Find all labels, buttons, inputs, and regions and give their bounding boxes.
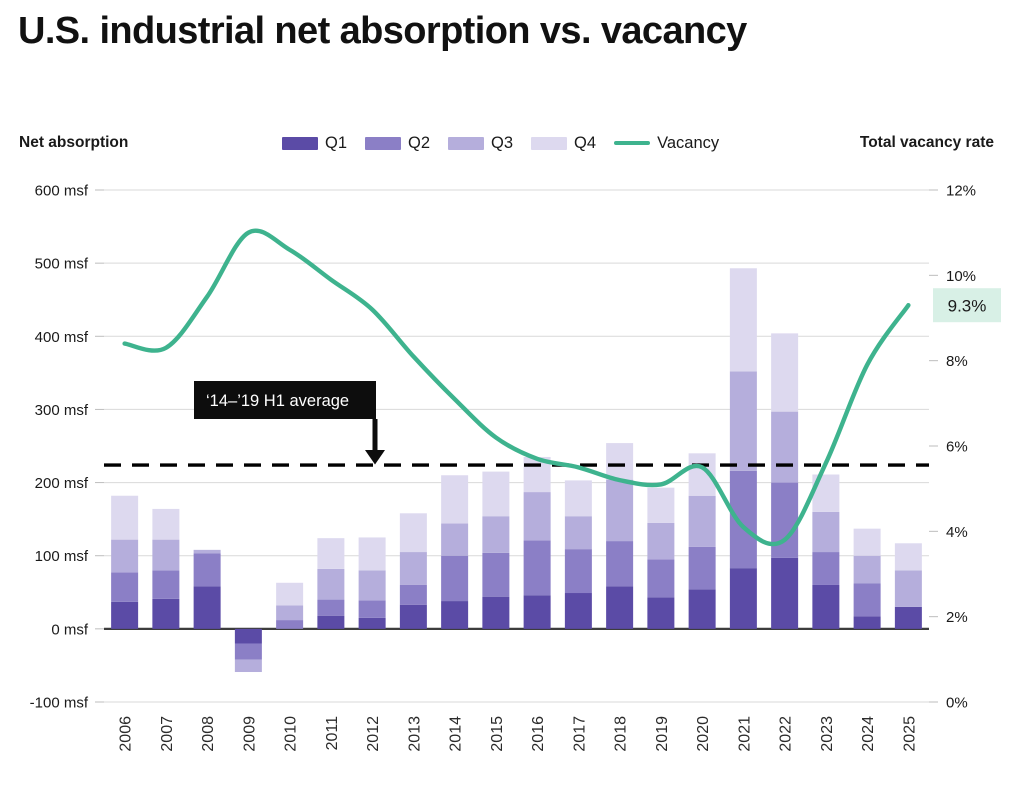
bar-segment-q2[interactable] <box>771 483 798 558</box>
x-axis-tick-label: 2014 <box>448 716 465 752</box>
bar-segment-q2[interactable] <box>730 471 757 568</box>
bar-segment-q1[interactable] <box>895 607 922 629</box>
bar-segment-q2[interactable] <box>235 643 262 659</box>
bar-group-2016[interactable] <box>524 457 551 629</box>
x-axis-labels: 2006200720082009201020112012201320142015… <box>118 716 919 752</box>
left-axis-tick-label: 400 msf <box>35 329 89 346</box>
bar-segment-q3[interactable] <box>482 516 509 553</box>
bar-segment-q1[interactable] <box>812 585 839 629</box>
bar-group-2017[interactable] <box>565 480 592 628</box>
bar-segment-q2[interactable] <box>606 541 633 586</box>
bar-segment-q1[interactable] <box>524 595 551 629</box>
x-axis-tick-label: 2019 <box>654 716 671 752</box>
bar-group-2012[interactable] <box>359 537 386 628</box>
bar-segment-q1[interactable] <box>152 599 179 629</box>
chart-plot-area: -100 msf0 msf100 msf200 msf300 msf400 ms… <box>0 0 1024 809</box>
bar-segment-q2[interactable] <box>689 547 716 589</box>
bar-segment-q2[interactable] <box>400 585 427 605</box>
left-axis-tick-label: 500 msf <box>35 256 89 273</box>
bar-segment-q1[interactable] <box>194 586 221 628</box>
bar-segment-q2[interactable] <box>647 559 674 597</box>
x-axis-tick-label: 2023 <box>819 716 836 752</box>
bar-segment-q2[interactable] <box>524 540 551 595</box>
bar-segment-q3[interactable] <box>565 516 592 549</box>
bar-segment-q2[interactable] <box>565 549 592 593</box>
left-axis-tick-label: 300 msf <box>35 402 89 419</box>
bar-segment-q3[interactable] <box>152 540 179 571</box>
bar-segment-q2[interactable] <box>194 554 221 587</box>
x-axis-tick-label: 2022 <box>778 716 795 752</box>
bar-segment-q4[interactable] <box>359 537 386 570</box>
bar-segment-q3[interactable] <box>359 570 386 600</box>
bar-segment-q1[interactable] <box>317 616 344 629</box>
bar-segment-q3[interactable] <box>854 556 881 584</box>
bar-segment-q3[interactable] <box>441 524 468 556</box>
x-axis-tick-label: 2011 <box>324 716 341 751</box>
bar-segment-q1[interactable] <box>235 629 262 644</box>
x-axis-tick-label: 2007 <box>159 716 176 752</box>
bar-segment-q2[interactable] <box>441 556 468 601</box>
x-axis-tick-label: 2009 <box>241 716 258 752</box>
bar-segment-q3[interactable] <box>111 540 138 573</box>
x-axis-tick-label: 2025 <box>901 716 918 752</box>
bar-segment-q3[interactable] <box>895 570 922 607</box>
bar-group-2011[interactable] <box>317 538 344 629</box>
left-axis-tick-label: 600 msf <box>35 183 89 200</box>
bar-group-2023[interactable] <box>812 475 839 629</box>
bar-segment-q4[interactable] <box>400 513 427 552</box>
bar-segment-q2[interactable] <box>812 552 839 585</box>
bar-group-2008[interactable] <box>194 550 221 629</box>
left-axis-tick-label: 100 msf <box>35 548 89 565</box>
bar-group-2019[interactable] <box>647 488 674 629</box>
bar-segment-q1[interactable] <box>730 568 757 629</box>
average-callout[interactable]: ‘14–’19 H1 average <box>194 381 385 465</box>
bar-segment-q4[interactable] <box>854 529 881 556</box>
right-axis-tick-label: 2% <box>946 609 968 626</box>
bar-segment-q4[interactable] <box>606 443 633 480</box>
right-axis-tick-label: 6% <box>946 439 968 456</box>
bar-segment-q3[interactable] <box>812 512 839 552</box>
bar-group-2025[interactable] <box>895 543 922 629</box>
x-axis-tick-label: 2015 <box>489 716 506 752</box>
bar-group-2006[interactable] <box>111 496 138 629</box>
x-axis-tick-label: 2021 <box>736 716 753 752</box>
right-axis-tick-label: 10% <box>946 268 976 285</box>
bar-segment-q1[interactable] <box>482 597 509 629</box>
bar-segment-q2[interactable] <box>276 620 303 629</box>
bar-segment-q2[interactable] <box>359 600 386 618</box>
bar-segment-q1[interactable] <box>565 593 592 629</box>
bar-segment-q2[interactable] <box>317 600 344 616</box>
right-axis-tick-label: 0% <box>946 695 968 712</box>
callout-arrow-head <box>365 450 385 465</box>
bar-series-group <box>111 268 922 672</box>
bar-segment-q3[interactable] <box>194 550 221 554</box>
bar-segment-q1[interactable] <box>689 589 716 628</box>
x-axis-tick-label: 2017 <box>571 716 588 752</box>
bar-group-2009[interactable] <box>235 629 262 672</box>
bar-segment-q4[interactable] <box>317 538 344 569</box>
bar-segment-q3[interactable] <box>689 496 716 547</box>
callout-label: ‘14–’19 H1 average <box>206 392 349 410</box>
x-axis-tick-label: 2010 <box>283 716 300 752</box>
bar-segment-q4[interactable] <box>771 333 798 411</box>
x-axis-tick-label: 2013 <box>406 716 423 752</box>
bar-segment-q4[interactable] <box>441 475 468 523</box>
bar-segment-q3[interactable] <box>235 660 262 672</box>
bar-segment-q4[interactable] <box>895 543 922 570</box>
bar-segment-q2[interactable] <box>482 553 509 597</box>
x-axis-tick-label: 2024 <box>860 716 877 752</box>
bar-segment-q3[interactable] <box>771 412 798 483</box>
bar-segment-q3[interactable] <box>400 552 427 585</box>
bar-group-2021[interactable] <box>730 268 757 629</box>
bar-group-2007[interactable] <box>152 509 179 629</box>
x-axis-tick-label: 2012 <box>365 716 382 752</box>
bar-segment-q4[interactable] <box>276 583 303 606</box>
bar-group-2024[interactable] <box>854 529 881 629</box>
x-axis-tick-label: 2018 <box>613 716 630 752</box>
bar-segment-q4[interactable] <box>111 496 138 540</box>
bar-segment-q1[interactable] <box>647 597 674 628</box>
bar-segment-q3[interactable] <box>647 523 674 560</box>
bar-segment-q4[interactable] <box>647 488 674 523</box>
vacancy-end-label[interactable]: 9.3% <box>933 288 1001 322</box>
right-axis-tick-label: 8% <box>946 353 968 370</box>
bar-group-2015[interactable] <box>482 472 509 629</box>
bar-segment-q2[interactable] <box>111 573 138 602</box>
bar-segment-q1[interactable] <box>359 618 386 629</box>
chart-page: U.S. industrial net absorption vs. vacan… <box>0 0 1024 809</box>
bar-segment-q1[interactable] <box>854 616 881 628</box>
left-axis-tick-label: 0 msf <box>51 621 89 638</box>
bar-group-2013[interactable] <box>400 513 427 629</box>
bar-group-2010[interactable] <box>276 583 303 629</box>
bar-segment-q3[interactable] <box>730 371 757 470</box>
bar-segment-q4[interactable] <box>730 268 757 371</box>
right-axis-tick-label: 12% <box>946 183 976 200</box>
bar-segment-q3[interactable] <box>276 605 303 620</box>
x-axis-tick-label: 2006 <box>118 716 135 752</box>
bar-segment-q4[interactable] <box>565 480 592 516</box>
bar-segment-q2[interactable] <box>152 570 179 599</box>
bar-group-2014[interactable] <box>441 475 468 629</box>
end-label-text: 9.3% <box>948 297 987 316</box>
bar-segment-q1[interactable] <box>400 605 427 629</box>
bar-segment-q3[interactable] <box>606 480 633 541</box>
bar-segment-q1[interactable] <box>606 586 633 628</box>
bar-segment-q4[interactable] <box>152 509 179 540</box>
right-axis-tick-label: 4% <box>946 524 968 541</box>
bar-segment-q2[interactable] <box>854 584 881 617</box>
bar-segment-q1[interactable] <box>441 601 468 629</box>
x-axis-tick-label: 2008 <box>200 716 217 752</box>
left-axis-tick-label: -100 msf <box>30 695 89 712</box>
left-axis-tick-label: 200 msf <box>35 475 89 492</box>
bar-segment-q1[interactable] <box>771 558 798 629</box>
bar-group-2022[interactable] <box>771 333 798 628</box>
bar-segment-q3[interactable] <box>524 492 551 540</box>
bar-group-2018[interactable] <box>606 443 633 629</box>
x-axis-tick-label: 2016 <box>530 716 547 752</box>
x-axis-tick-label: 2020 <box>695 716 712 752</box>
bar-segment-q4[interactable] <box>482 472 509 517</box>
bar-segment-q3[interactable] <box>317 569 344 600</box>
bar-segment-q1[interactable] <box>111 602 138 629</box>
